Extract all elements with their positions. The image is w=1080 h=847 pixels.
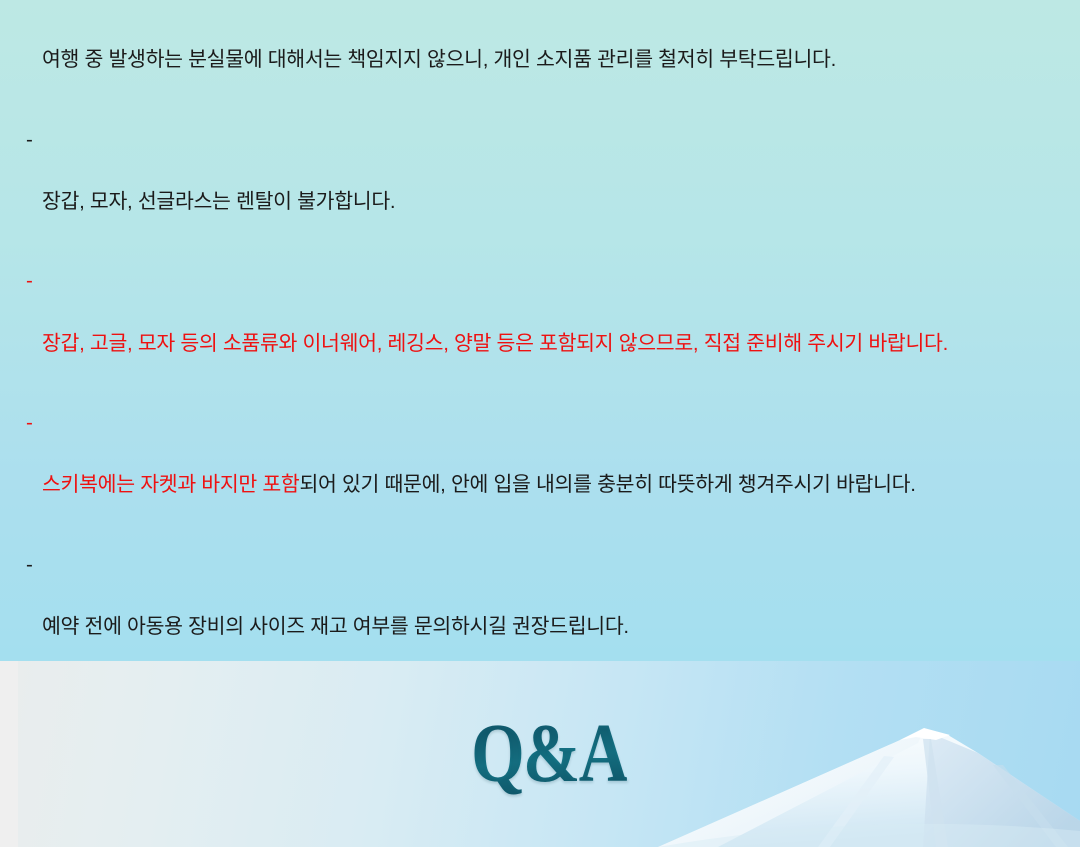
- notice-text: 장갑, 모자, 선글라스는 렌탈이 불가합니다.: [26, 186, 1058, 217]
- notice-text: 여행 중 발생하는 분실물에 대해서는 책임지지 않으니, 개인 소지품 관리를…: [26, 44, 1058, 75]
- bullet-dash: -: [26, 549, 33, 580]
- bullet-dash: -: [26, 265, 33, 296]
- notice-item-skiwear-jacket-pants-only: - 스키복에는 자켓과 바지만 포함되어 있기 때문에, 안에 입을 내의를 충…: [0, 407, 1080, 532]
- qa-section-banner: Q&A: [0, 661, 1080, 847]
- notice-text: 예약 전에 아동용 장비의 사이즈 재고 여부를 문의하시길 권장드립니다.: [26, 611, 1058, 642]
- product-notice-page: - 여행 중 발생하는 분실물에 대해서는 책임지지 않으니, 개인 소지품 관…: [0, 0, 1080, 847]
- bullet-dash: -: [26, 124, 33, 155]
- notice-text: 스키복에는 자켓과 바지만 포함되어 있기 때문에, 안에 입을 내의를 충분히…: [26, 469, 1058, 500]
- notice-item-no-rental-gloves-hat-sunglasses: - 장갑, 모자, 선글라스는 렌탈이 불가합니다.: [0, 124, 1080, 249]
- notice-rest: 되어 있기 때문에, 안에 입을 내의를 충분히 따뜻하게 챙겨주시기 바랍니다…: [299, 473, 915, 496]
- notice-item-kids-gear-size-check: - 예약 전에 아동용 장비의 사이즈 재고 여부를 문의하시길 권장드립니다.: [0, 549, 1080, 662]
- ski-tour-notice-section: - 여행 중 발생하는 분실물에 대해서는 책임지지 않으니, 개인 소지품 관…: [0, 0, 1080, 661]
- notice-text: 장갑, 고글, 모자 등의 소품류와 이너웨어, 레깅스, 양말 등은 포함되지…: [26, 328, 1058, 359]
- mount-fuji-banner-image: Q&A: [18, 661, 1080, 847]
- notice-item-lost-items: - 여행 중 발생하는 분실물에 대해서는 책임지지 않으니, 개인 소지품 관…: [0, 0, 1080, 107]
- qa-title: Q&A: [471, 712, 627, 796]
- qa-title-wrap: Q&A: [18, 661, 1080, 847]
- bullet-dash: -: [26, 0, 33, 13]
- bullet-dash: -: [26, 407, 33, 438]
- notice-highlight: 스키복에는 자켓과 바지만 포함: [42, 473, 299, 496]
- notice-list: - 여행 중 발생하는 분실물에 대해서는 책임지지 않으니, 개인 소지품 관…: [0, 0, 1080, 661]
- notice-item-accessories-not-included: - 장갑, 고글, 모자 등의 소품류와 이너웨어, 레깅스, 양말 등은 포함…: [0, 265, 1080, 390]
